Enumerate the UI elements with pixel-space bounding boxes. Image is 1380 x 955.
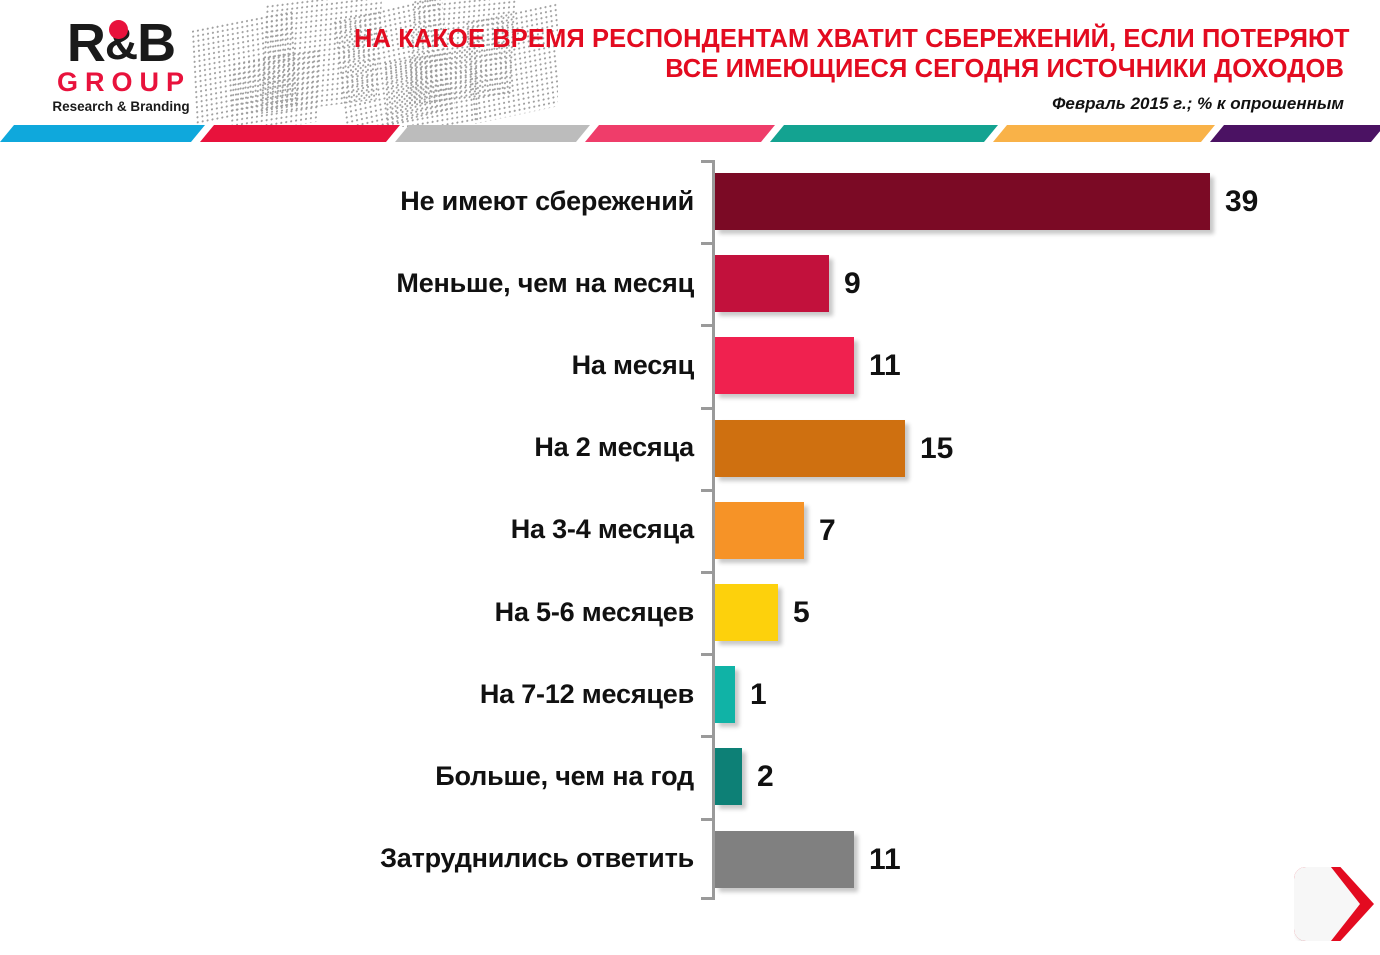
logo-red-dot-icon (109, 20, 128, 39)
axis-tick (701, 160, 713, 163)
bar-category-label: На 3-4 месяца (0, 489, 694, 571)
bar-value-label: 5 (793, 584, 810, 641)
stripe-cyan (0, 125, 205, 142)
slide-subtitle: Февраль 2015 г.; % к опрошенным (354, 94, 1344, 114)
stripe-teal (770, 125, 998, 142)
bar-category-label: На 5-6 месяцев (0, 571, 694, 653)
bar-value-label: 1 (750, 666, 767, 723)
bar-row: Не имеют сбережений39 (0, 160, 1380, 242)
bar-and-value: 15 (715, 420, 953, 477)
bar-row: Меньше, чем на месяц9 (0, 242, 1380, 324)
axis-tick (701, 818, 713, 821)
bar-category-label: Больше, чем на год (0, 735, 694, 817)
bar-segment[interactable] (715, 502, 804, 559)
bar-and-value: 7 (715, 502, 836, 559)
logo-tagline: Research & Branding (36, 99, 206, 115)
stripe-red (200, 125, 400, 142)
rb-group-logo: R&B GROUP Research & Branding (36, 16, 206, 112)
bar-value-label: 9 (844, 255, 861, 312)
bar-and-value: 5 (715, 584, 810, 641)
bar-segment[interactable] (715, 666, 735, 723)
bar-row: На месяц11 (0, 324, 1380, 406)
bar-segment[interactable] (715, 420, 905, 477)
bar-and-value: 2 (715, 748, 774, 805)
slide-title-line-1: НА КАКОЕ ВРЕМЯ РЕСПОНДЕНТАМ ХВАТИТ СБЕРЕ… (354, 24, 1344, 54)
axis-tick (701, 571, 713, 574)
bar-value-label: 11 (869, 337, 901, 394)
bar-and-value: 1 (715, 666, 767, 723)
bar-segment[interactable] (715, 831, 854, 888)
stripe-pink (585, 125, 775, 142)
axis-tick (701, 407, 713, 410)
logo-letter-r: R (67, 13, 105, 73)
bar-category-label: Меньше, чем на месяц (0, 242, 694, 324)
stripe-gray (395, 125, 590, 142)
slide-header: R&B GROUP Research & Branding НА КАКОЕ В… (0, 0, 1380, 127)
logo-wordmark: R&B (36, 16, 206, 70)
color-stripe-bar (0, 125, 1380, 142)
bar-category-label: На 2 месяца (0, 407, 694, 489)
bar-category-label: Затруднились ответить (0, 818, 694, 900)
axis-tick (701, 489, 713, 492)
bar-category-label: На месяц (0, 324, 694, 406)
title-block: НА КАКОЕ ВРЕМЯ РЕСПОНДЕНТАМ ХВАТИТ СБЕРЕ… (354, 24, 1344, 114)
bar-row: Больше, чем на год2 (0, 735, 1380, 817)
chevron-right-icon[interactable] (1294, 867, 1374, 941)
logo-ampersand: & (105, 16, 137, 70)
bar-and-value: 9 (715, 255, 861, 312)
bar-segment[interactable] (715, 255, 829, 312)
bar-value-label: 11 (869, 831, 901, 888)
bar-category-label: На 7-12 месяцев (0, 653, 694, 735)
logo-letter-b: B (137, 13, 175, 73)
axis-tick (701, 653, 713, 656)
logo-group-text: GROUP (36, 68, 206, 96)
bar-segment[interactable] (715, 337, 854, 394)
axis-tick (701, 324, 713, 327)
bar-and-value: 11 (715, 337, 901, 394)
axis-tick (701, 735, 713, 738)
bar-row: Затруднились ответить11 (0, 818, 1380, 900)
bar-row: На 3-4 месяца7 (0, 489, 1380, 571)
bar-segment[interactable] (715, 584, 778, 641)
bar-value-label: 7 (819, 502, 836, 559)
axis-tick (701, 242, 713, 245)
bar-row: На 5-6 месяцев5 (0, 571, 1380, 653)
bar-rows: Не имеют сбережений39Меньше, чем на меся… (0, 160, 1380, 900)
bar-value-label: 39 (1225, 173, 1258, 230)
slide-title-line-2: ВСЕ ИМЕЮЩИЕСЯ СЕГОДНЯ ИСТОЧНИКИ ДОХОДОВ (354, 54, 1344, 84)
bar-segment[interactable] (715, 173, 1210, 230)
bar-and-value: 39 (715, 173, 1258, 230)
bar-row: На 7-12 месяцев1 (0, 653, 1380, 735)
stripe-orange (993, 125, 1215, 142)
bar-value-label: 2 (757, 748, 774, 805)
slide-root: R&B GROUP Research & Branding НА КАКОЕ В… (0, 0, 1380, 955)
bar-value-label: 15 (920, 420, 953, 477)
bar-chart: Не имеют сбережений39Меньше, чем на меся… (0, 142, 1380, 955)
bar-and-value: 11 (715, 831, 901, 888)
bar-segment[interactable] (715, 748, 742, 805)
bar-row: На 2 месяца15 (0, 407, 1380, 489)
bar-category-label: Не имеют сбережений (0, 160, 694, 242)
stripe-purple (1210, 125, 1380, 142)
